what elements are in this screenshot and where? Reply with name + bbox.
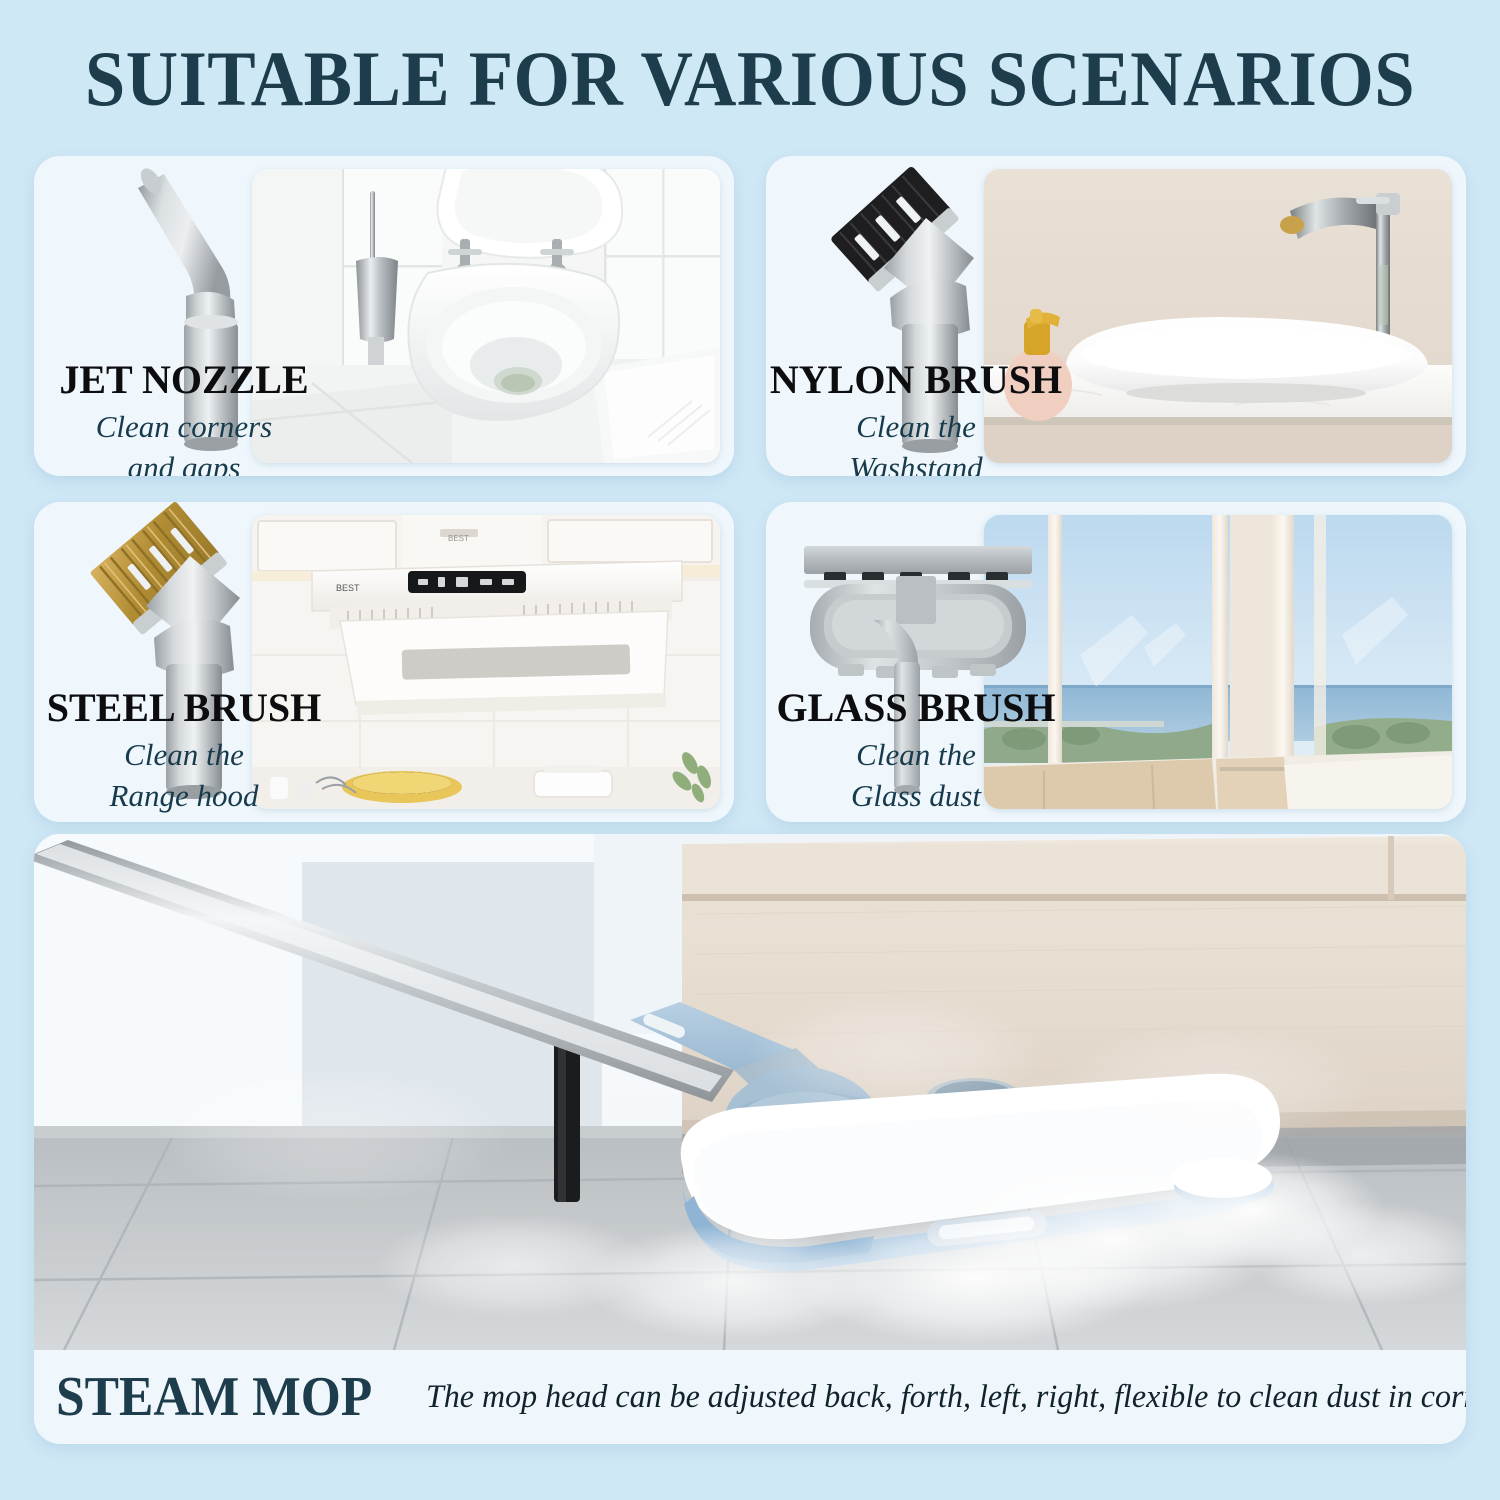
feature-card-steel-brush[interactable]: BEST BEST [34,502,734,822]
hood-brand-text: BEST [336,583,360,593]
steam-mop-description: The mop head can be adjusted back, forth… [426,1379,1466,1416]
steam-mop-caption-bar: STEAM MOP The mop head can be adjusted b… [34,1350,1466,1444]
feature-card-glass-brush[interactable]: GLASS BRUSH Clean the Glass dust [766,502,1466,822]
nylon-brush-icon [766,156,1066,476]
feature-card-jet-nozzle[interactable]: JET NOZZLE Clean corners and gaps [34,156,734,476]
steam-mop-title: STEAM MOP [56,1365,372,1429]
steel-brush-icon [34,502,334,822]
feature-card-nylon-brush[interactable]: NYLON BRUSH Clean the Washstand [766,156,1466,476]
jet-nozzle-icon [34,156,334,476]
feature-card-grid: JET NOZZLE Clean corners and gaps [34,156,1466,822]
chimney-brand-text: BEST [448,534,469,543]
steam-mop-panel[interactable]: STEAM MOP The mop head can be adjusted b… [34,834,1466,1444]
page-title: SUITABLE FOR VARIOUS SCENARIOS [53,34,1448,124]
steam-mop-photo [34,834,1466,1350]
glass-brush-icon [766,502,1066,822]
